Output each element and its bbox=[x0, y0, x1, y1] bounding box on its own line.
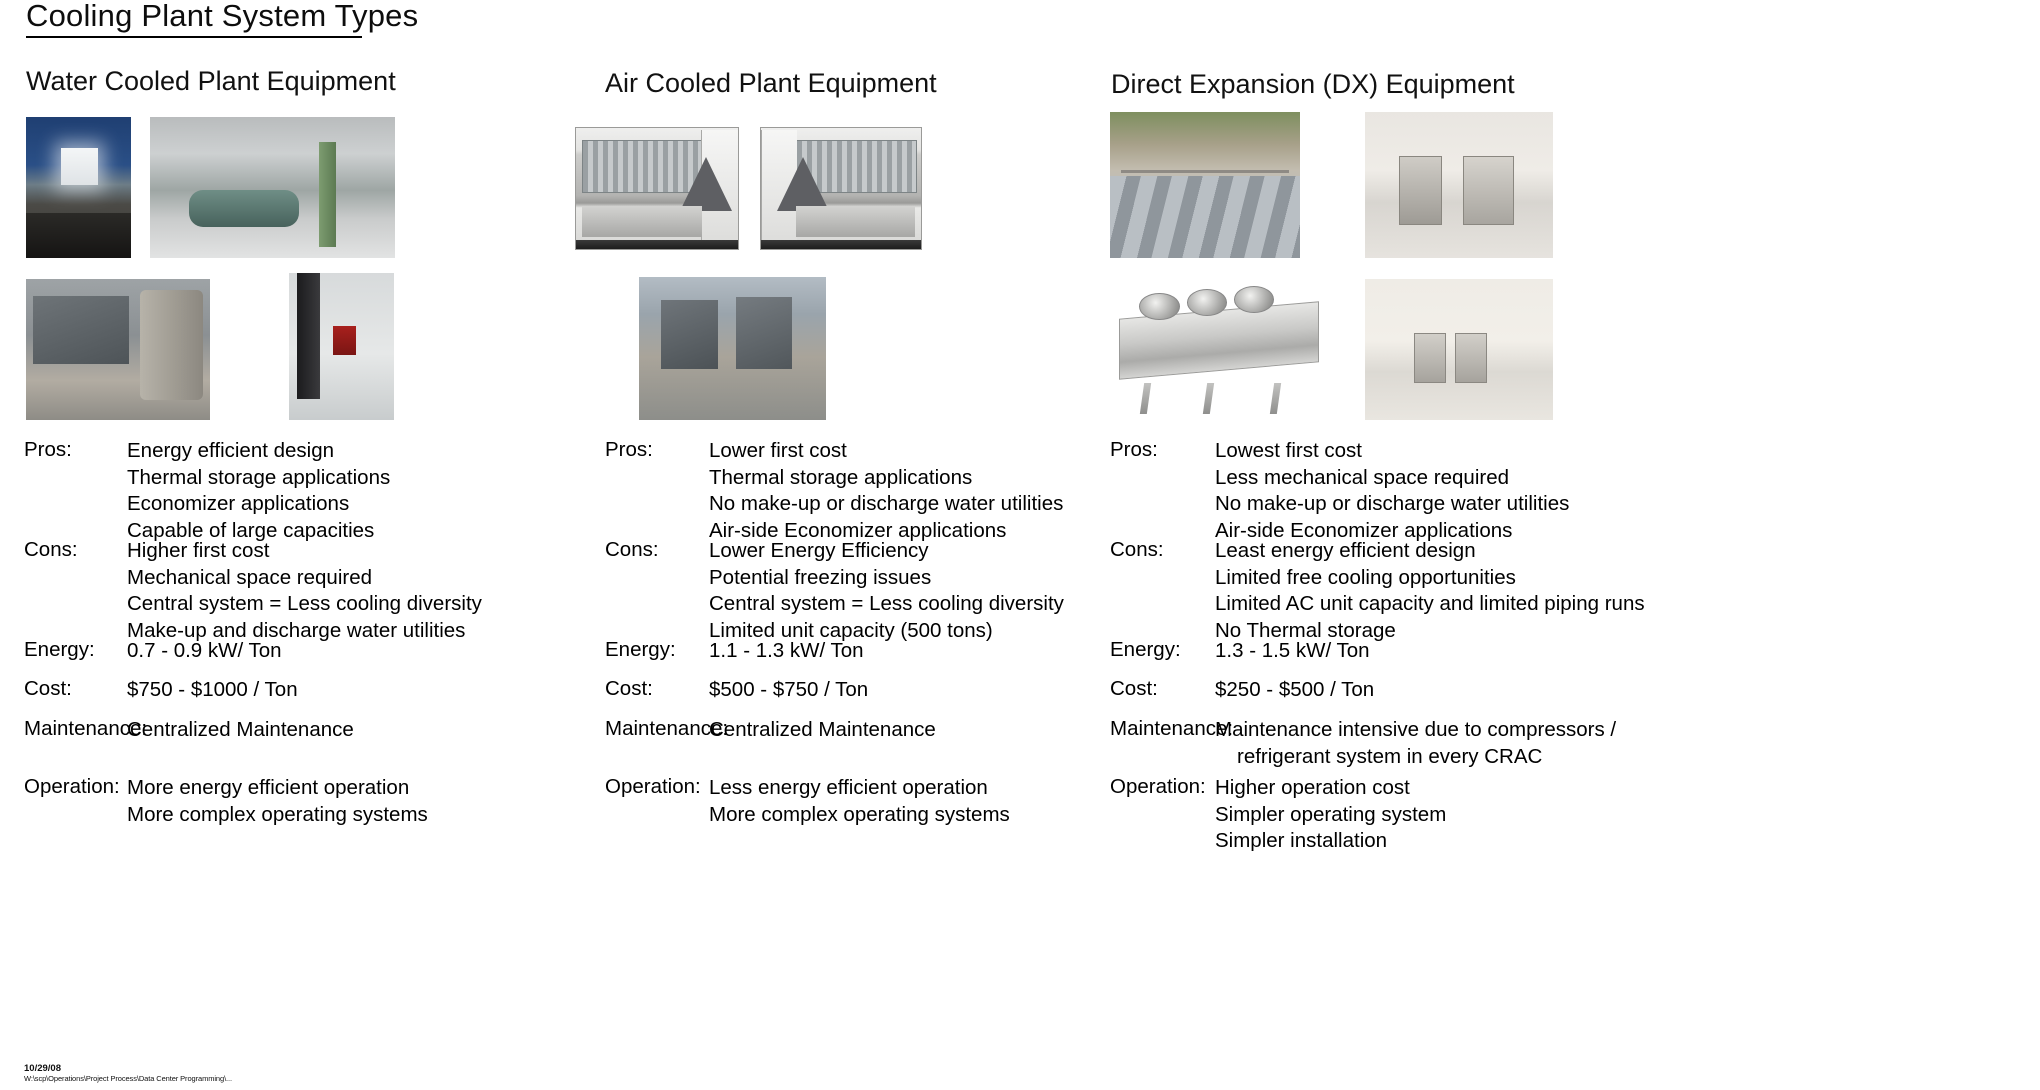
column-heading: Water Cooled Plant Equipment bbox=[26, 66, 396, 97]
spec-value: Economizer applications bbox=[127, 491, 390, 518]
spec-value: Lower first cost bbox=[709, 438, 1063, 465]
spec-label: Energy: bbox=[605, 638, 676, 662]
spec-value: $250 - $500 / Ton bbox=[1215, 677, 1374, 704]
footer-date: 10/29/08 bbox=[24, 1063, 232, 1074]
spec-value: Central system = Less cooling diversity bbox=[127, 591, 482, 618]
column-heading: Air Cooled Plant Equipment bbox=[605, 68, 937, 99]
spec-value: No make-up or discharge water utilities bbox=[1215, 491, 1569, 518]
cooling-towers-with-tank-photo bbox=[26, 279, 210, 420]
spec-value: Potential freezing issues bbox=[709, 565, 1064, 592]
spec-value: More complex operating systems bbox=[709, 802, 1010, 829]
spec-label: Energy: bbox=[24, 638, 95, 662]
spec-value: Energy efficient design bbox=[127, 438, 390, 465]
spec-value: Less mechanical space required bbox=[1215, 465, 1569, 492]
dx-condensing-unit-photo bbox=[1110, 279, 1335, 420]
spec-values: Centralized Maintenance bbox=[127, 717, 354, 744]
spec-values: Lower Energy Efficiency Potential freezi… bbox=[709, 538, 1064, 644]
slide-footer: 10/29/08 W:\scp\Operations\Project Proce… bbox=[24, 1063, 232, 1084]
crac-units-room-photo bbox=[1365, 112, 1553, 258]
condenser-yard-photo bbox=[1110, 112, 1300, 258]
spec-value: More complex operating systems bbox=[127, 802, 428, 829]
spec-value: Central system = Less cooling diversity bbox=[709, 591, 1064, 618]
spec-value: Thermal storage applications bbox=[127, 465, 390, 492]
spec-values: Lower first cost Thermal storage applica… bbox=[709, 438, 1063, 544]
title-underline bbox=[26, 36, 362, 38]
spec-label: Pros: bbox=[1110, 438, 1158, 462]
spec-values: $750 - $1000 / Ton bbox=[127, 677, 298, 704]
spec-values: 0.7 - 0.9 kW/ Ton bbox=[127, 638, 282, 665]
spec-values: $250 - $500 / Ton bbox=[1215, 677, 1374, 704]
spec-value: Higher operation cost bbox=[1215, 775, 1446, 802]
spec-label: Pros: bbox=[24, 438, 72, 462]
spec-value: Lowest first cost bbox=[1215, 438, 1569, 465]
spec-values: Least energy efficient design Limited fr… bbox=[1215, 538, 1645, 644]
spec-label: Cost: bbox=[24, 677, 72, 701]
spec-values: Lowest first cost Less mechanical space … bbox=[1215, 438, 1569, 544]
cooling-tower-platform-photo bbox=[26, 117, 131, 258]
spec-label: Cost: bbox=[605, 677, 653, 701]
spec-value: 1.1 - 1.3 kW/ Ton bbox=[709, 638, 864, 665]
spec-values: Higher operation cost Simpler operating … bbox=[1215, 775, 1446, 855]
spec-value: Simpler operating system bbox=[1215, 802, 1446, 829]
rooftop-air-cooled-units-photo bbox=[639, 277, 826, 420]
spec-label: Cost: bbox=[1110, 677, 1158, 701]
spec-value: $750 - $1000 / Ton bbox=[127, 677, 298, 704]
spec-value: Simpler installation bbox=[1215, 828, 1446, 855]
spec-values: 1.1 - 1.3 kW/ Ton bbox=[709, 638, 864, 665]
spec-values: $500 - $750 / Ton bbox=[709, 677, 868, 704]
spec-label: Operation: bbox=[1110, 775, 1206, 799]
spec-value: 1.3 - 1.5 kW/ Ton bbox=[1215, 638, 1370, 665]
spec-label: Pros: bbox=[605, 438, 653, 462]
spec-value: Limited AC unit capacity and limited pip… bbox=[1215, 591, 1645, 618]
air-cooled-chillers-pair-photo bbox=[575, 115, 925, 260]
spec-label: Operation: bbox=[605, 775, 701, 799]
spec-values: Higher first cost Mechanical space requi… bbox=[127, 538, 482, 644]
pump-room-photo bbox=[289, 273, 394, 420]
spec-value: Less energy efficient operation bbox=[709, 775, 1010, 802]
spec-value: No make-up or discharge water utilities bbox=[709, 491, 1063, 518]
spec-label: Cons: bbox=[1110, 538, 1164, 562]
spec-label: Operation: bbox=[24, 775, 120, 799]
spec-value: More energy efficient operation bbox=[127, 775, 428, 802]
spec-values: Energy efficient design Thermal storage … bbox=[127, 438, 390, 544]
spec-values: More energy efficient operation More com… bbox=[127, 775, 428, 828]
spec-label: Energy: bbox=[1110, 638, 1181, 662]
spec-value: Limited free cooling opportunities bbox=[1215, 565, 1645, 592]
chiller-mechanical-room-photo bbox=[150, 117, 395, 258]
spec-value: Mechanical space required bbox=[127, 565, 482, 592]
slide-canvas: Cooling Plant System Types Water Cooled … bbox=[0, 0, 2040, 1090]
spec-values: Maintenance intensive due to compressors… bbox=[1215, 717, 1616, 770]
spec-label: Cons: bbox=[24, 538, 78, 562]
spec-values: 1.3 - 1.5 kW/ Ton bbox=[1215, 638, 1370, 665]
spec-value: refrigerant system in every CRAC bbox=[1215, 744, 1616, 771]
spec-value: Centralized Maintenance bbox=[127, 717, 354, 744]
spec-values: Centralized Maintenance bbox=[709, 717, 936, 744]
spec-value: Least energy efficient design bbox=[1215, 538, 1645, 565]
spec-value: Higher first cost bbox=[127, 538, 482, 565]
spec-value: $500 - $750 / Ton bbox=[709, 677, 868, 704]
spec-values: Less energy efficient operation More com… bbox=[709, 775, 1010, 828]
footer-file-path: W:\scp\Operations\Project Process\Data C… bbox=[24, 1074, 232, 1084]
spec-value: Maintenance intensive due to compressors… bbox=[1215, 717, 1616, 744]
page-title: Cooling Plant System Types bbox=[26, 0, 418, 34]
column-heading: Direct Expansion (DX) Equipment bbox=[1111, 69, 1515, 100]
crac-units-white-room-photo bbox=[1365, 279, 1553, 420]
spec-value: Lower Energy Efficiency bbox=[709, 538, 1064, 565]
spec-value: Thermal storage applications bbox=[709, 465, 1063, 492]
spec-value: Centralized Maintenance bbox=[709, 717, 936, 744]
spec-value: 0.7 - 0.9 kW/ Ton bbox=[127, 638, 282, 665]
spec-label: Cons: bbox=[605, 538, 659, 562]
